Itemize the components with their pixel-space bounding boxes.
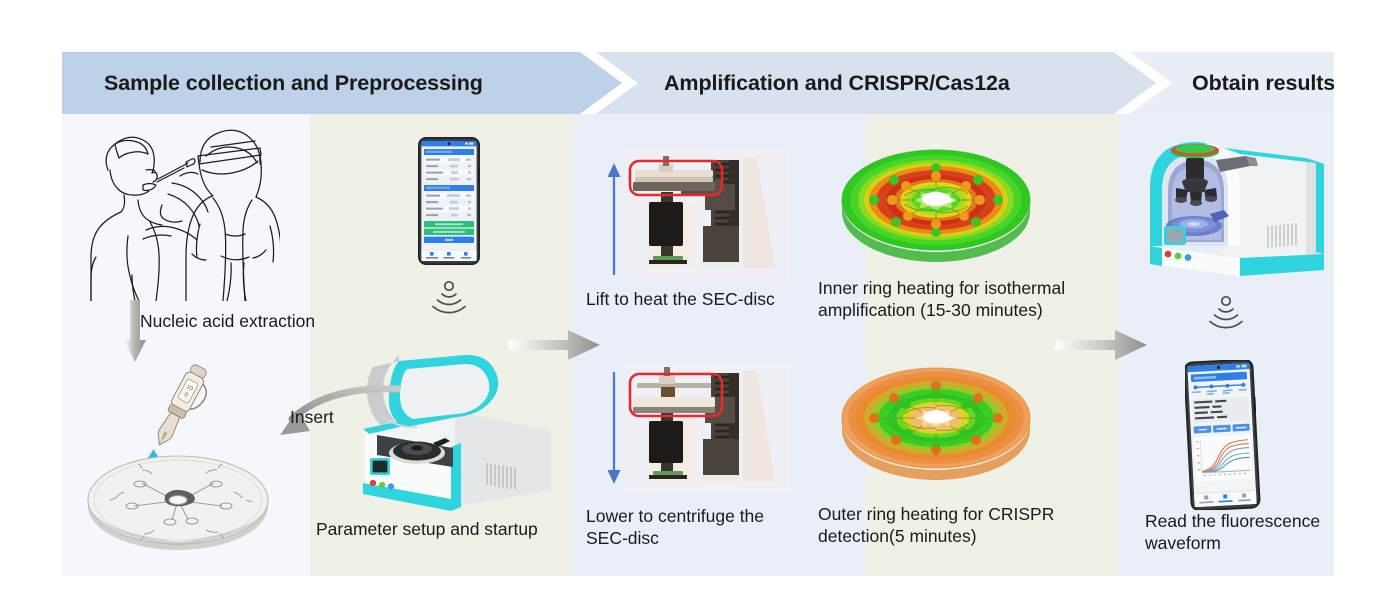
- wireless-signal-icon: [1206, 295, 1246, 329]
- caption-insert: Insert: [290, 406, 334, 428]
- arrow-down-icon: [606, 372, 622, 484]
- caption-read-fluorescence: Read the fluorescence waveform: [1145, 510, 1320, 554]
- caption-lift-to-heat: Lift to heat the SEC-disc: [586, 288, 775, 310]
- phone-parameter-setup[interactable]: [418, 137, 480, 265]
- stage-header-results: Obtain results: [1130, 52, 1334, 114]
- arrow-up-icon: [606, 163, 622, 275]
- stage-label: Sample collection and Preprocessing: [104, 71, 483, 96]
- stage-label: Amplification and CRISPR/Cas12a: [664, 71, 1010, 96]
- workflow-figure: Sample collection and Preprocessing Ampl…: [0, 0, 1396, 616]
- caption-outer-ring-heating: Outer ring heating for CRISPR detection(…: [818, 503, 1054, 547]
- caption-lower-to-centrifuge: Lower to centrifuge the SEC-disc: [586, 505, 764, 549]
- flow-arrow-icon: [508, 329, 600, 361]
- flow-arrow-icon: [1055, 329, 1147, 361]
- detection-instrument-closed: [1128, 130, 1343, 282]
- phone-results-readout[interactable]: [1185, 360, 1261, 510]
- caption-nucleic-extraction: Nucleic acid extraction: [140, 310, 315, 332]
- mechanism-lower-photo: [625, 363, 790, 493]
- pipette-icon: 10 0: [152, 360, 208, 452]
- stage-banner: Sample collection and Preprocessing Ampl…: [62, 52, 1334, 114]
- wireless-signal-icon: [429, 280, 469, 314]
- mechanism-lift-photo: [625, 150, 790, 280]
- caption-parameter-setup: Parameter setup and startup: [316, 518, 538, 540]
- caption-inner-ring-heating: Inner ring heating for isothermal amplif…: [818, 277, 1065, 321]
- thermal-disc-outer-ring: [836, 358, 1036, 482]
- stage-header-sample-collection: Sample collection and Preprocessing: [62, 52, 622, 114]
- swab-collection-illustration: [80, 126, 280, 301]
- stage-label: Obtain results: [1192, 71, 1335, 96]
- stage-header-amplification: Amplification and CRISPR/Cas12a: [596, 52, 1156, 114]
- sec-disc-microfluidic: [82, 448, 274, 554]
- thermal-disc-inner-ring: [836, 140, 1036, 264]
